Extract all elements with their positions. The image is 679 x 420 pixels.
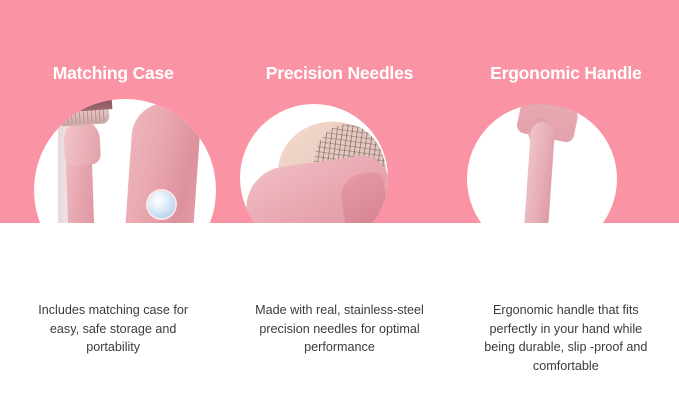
caption-column-matching-case: Includes matching case for easy, safe st… bbox=[0, 0, 226, 420]
product-feature-banner: Matching Case Precision Needles bbox=[0, 0, 679, 420]
caption-columns: Includes matching case for easy, safe st… bbox=[0, 0, 679, 420]
feature-caption-ergonomic-handle: Ergonomic handle that fits perfectly in … bbox=[453, 301, 679, 375]
feature-caption-precision-needles: Made with real, stainless-steel precisio… bbox=[226, 301, 452, 357]
feature-caption-matching-case: Includes matching case for easy, safe st… bbox=[0, 301, 226, 357]
caption-column-ergonomic-handle: Ergonomic handle that fits perfectly in … bbox=[453, 0, 679, 420]
caption-column-precision-needles: Made with real, stainless-steel precisio… bbox=[226, 0, 452, 420]
